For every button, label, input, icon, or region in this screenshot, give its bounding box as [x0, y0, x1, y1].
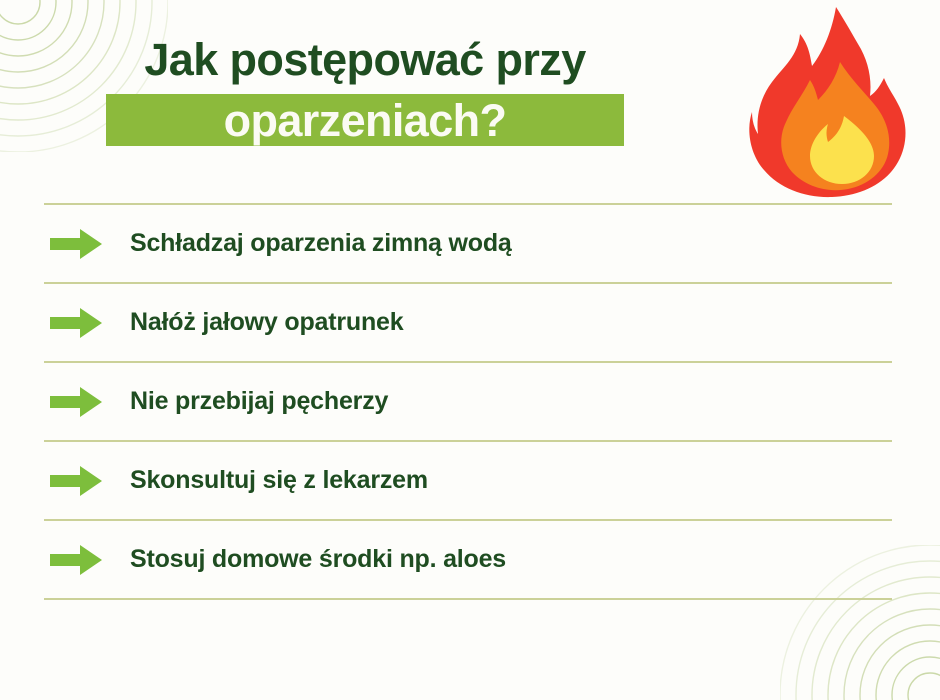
flame-icon: [748, 4, 913, 199]
title-line-2-container: oparzeniach?: [0, 94, 730, 146]
list-item-label: Skonsultuj się z lekarzem: [130, 466, 428, 495]
title-line-2-highlighted: oparzeniach?: [106, 94, 625, 146]
infographic-poster: Jak postępować przy oparzeniach?: [0, 0, 940, 700]
list-item[interactable]: Skonsultuj się z lekarzem: [44, 442, 892, 519]
arrow-right-icon: [50, 385, 102, 419]
list-item-label: Schładzaj oparzenia zimną wodą: [130, 229, 512, 258]
list-divider: [44, 440, 892, 442]
list-item-label: Stosuj domowe środki np. aloes: [130, 545, 506, 574]
list-item-label: Nie przebijaj pęcherzy: [130, 387, 388, 416]
list-divider: [44, 361, 892, 363]
advice-list: Schładzaj oparzenia zimną wodą Nałóż jał…: [44, 203, 892, 600]
page-title: Jak postępować przy oparzeniach?: [0, 32, 730, 146]
arrow-right-icon: [50, 306, 102, 340]
list-item-label: Nałóż jałowy opatrunek: [130, 308, 403, 337]
arrow-right-icon: [50, 543, 102, 577]
list-item[interactable]: Nałóż jałowy opatrunek: [44, 284, 892, 361]
list-item[interactable]: Nie przebijaj pęcherzy: [44, 363, 892, 440]
list-item[interactable]: Stosuj domowe środki np. aloes: [44, 521, 892, 598]
poster-header: Jak postępować przy oparzeniach?: [0, 0, 940, 200]
list-divider: [44, 519, 892, 521]
arrow-right-icon: [50, 227, 102, 261]
list-divider: [44, 203, 892, 205]
list-divider: [44, 598, 892, 600]
list-item[interactable]: Schładzaj oparzenia zimną wodą: [44, 205, 892, 282]
list-divider: [44, 282, 892, 284]
arrow-right-icon: [50, 464, 102, 498]
title-line-1: Jak postępować przy: [0, 32, 730, 88]
